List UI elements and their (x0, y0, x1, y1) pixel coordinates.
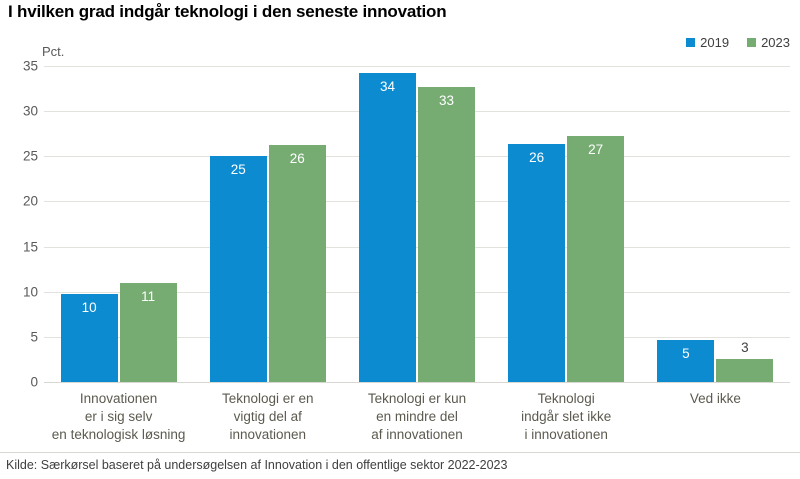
x-axis-category-label: Innovationener i sig selven teknologisk … (44, 390, 193, 444)
bar-value-label: 3 (716, 340, 773, 355)
footer-divider (0, 452, 800, 453)
x-axis-category-label: Ved ikke (641, 390, 790, 408)
x-axis-category-label: Teknologi er envigtig del afinnovationen (193, 390, 342, 444)
x-axis-category-line: i innovationen (492, 426, 641, 444)
x-axis-category-line: Innovationen (44, 390, 193, 408)
x-axis-category-line: Teknologi (492, 390, 641, 408)
bar-value-label: 33 (418, 93, 475, 108)
x-axis-category-label: Teknologiindgår slet ikkei innovationen (492, 390, 641, 444)
x-axis-category-line: Teknologi er kun (342, 390, 491, 408)
bar-2023-cat4[interactable] (716, 359, 773, 382)
bar-value-label: 10 (61, 300, 118, 315)
bar-value-label: 26 (269, 151, 326, 166)
bar-2023-cat1[interactable] (269, 145, 326, 382)
bar-2019-cat3[interactable] (508, 144, 565, 382)
bar-value-label: 5 (657, 346, 714, 361)
bar-2019-cat1[interactable] (210, 156, 267, 382)
x-axis-category-line: en mindre del (342, 408, 491, 426)
bar-2019-cat2[interactable] (359, 73, 416, 382)
bar-value-label: 26 (508, 150, 565, 165)
x-axis-category-line: indgår slet ikke (492, 408, 641, 426)
x-axis-category-line: en teknologisk løsning (44, 426, 193, 444)
bars-layer: 1011Innovationener i sig selven teknolog… (0, 0, 800, 479)
x-axis-category-line: af innovationen (342, 426, 491, 444)
x-axis-category-line: Ved ikke (641, 390, 790, 408)
bar-2023-cat2[interactable] (418, 87, 475, 382)
source-note: Kilde: Særkørsel baseret på undersøgelse… (6, 458, 507, 472)
bar-2023-cat3[interactable] (567, 136, 624, 382)
bar-value-label: 11 (120, 289, 177, 304)
x-axis-category-line: Teknologi er en (193, 390, 342, 408)
bar-value-label: 25 (210, 162, 267, 177)
bar-value-label: 34 (359, 79, 416, 94)
x-axis-category-line: innovationen (193, 426, 342, 444)
x-axis-category-label: Teknologi er kunen mindre delaf innovati… (342, 390, 491, 444)
x-axis-category-line: er i sig selv (44, 408, 193, 426)
x-axis-category-line: vigtig del af (193, 408, 342, 426)
bar-value-label: 27 (567, 142, 624, 157)
